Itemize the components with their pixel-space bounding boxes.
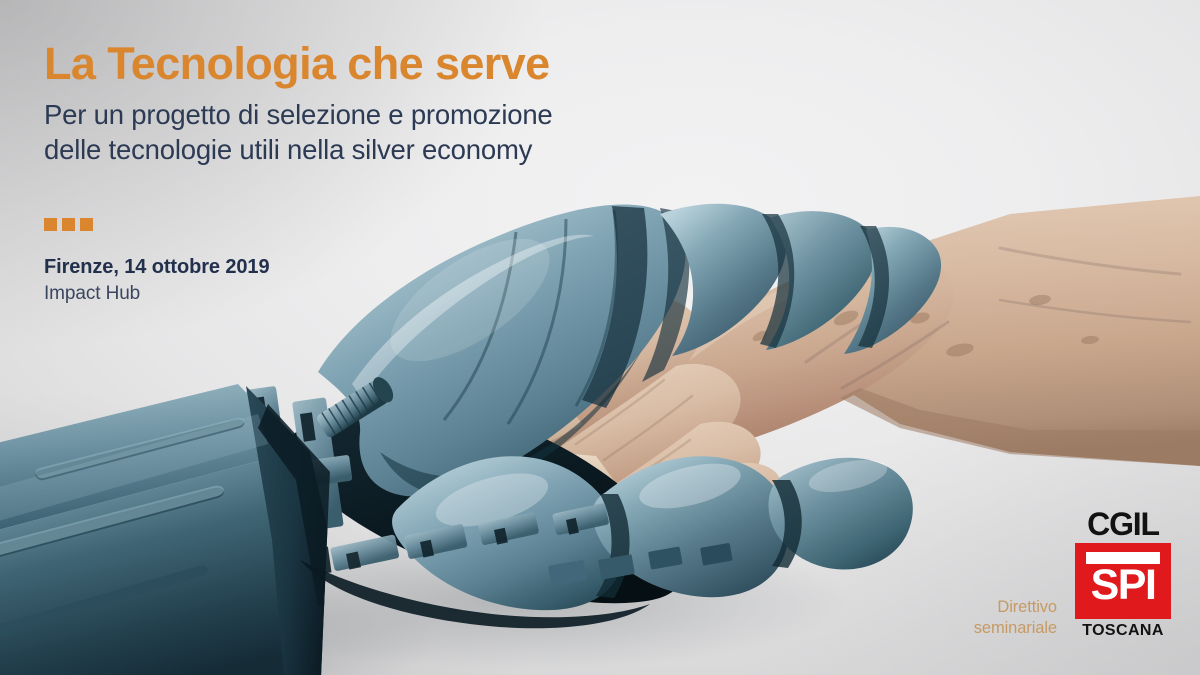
subtitle-line-1: Per un progetto di selezione e promozion… (44, 97, 684, 132)
orange-square-2 (62, 218, 75, 231)
event-type-kicker: Direttivo seminariale (974, 597, 1057, 639)
orange-square-3 (80, 218, 93, 231)
logo-spi-text: SPI (1075, 564, 1171, 607)
kicker-line-2: seminariale (974, 618, 1057, 639)
orange-square-1 (44, 218, 57, 231)
headline-block: La Tecnologia che serve Per un progetto … (44, 40, 684, 168)
event-venue: Impact Hub (44, 283, 269, 305)
subtitle-line-2: delle tecnologie utili nella silver econ… (44, 132, 684, 167)
logo-toscana-text: TOSCANA (1072, 623, 1174, 639)
page-title: La Tecnologia che serve (44, 40, 684, 87)
three-orange-squares-divider (44, 218, 93, 231)
logo-red-mark: SPI (1075, 543, 1171, 619)
logo-cgil-text: CGIL (1072, 508, 1174, 540)
cgil-spi-toscana-logo: CGIL SPI TOSCANA (1072, 508, 1174, 639)
event-date: Firenze, 14 ottobre 2019 (44, 256, 269, 279)
poster-canvas: La Tecnologia che serve Per un progetto … (0, 0, 1200, 675)
page-subtitle: Per un progetto di selezione e promozion… (44, 97, 684, 167)
event-details: Firenze, 14 ottobre 2019 Impact Hub (44, 256, 269, 305)
kicker-line-1: Direttivo (974, 597, 1057, 618)
